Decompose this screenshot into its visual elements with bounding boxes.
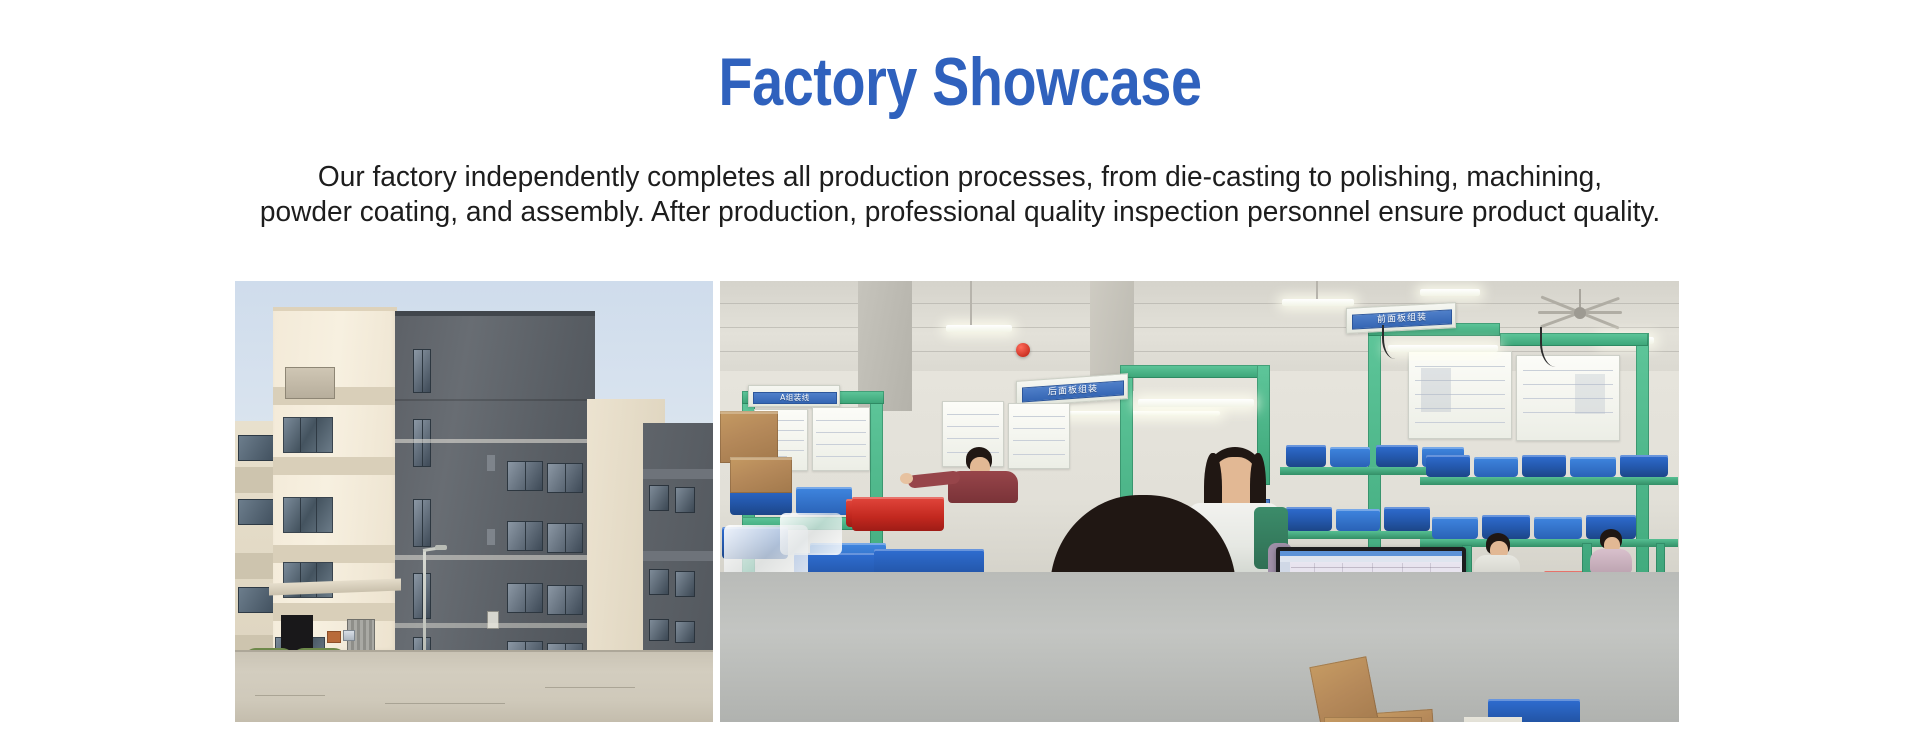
instruction-board — [1008, 403, 1070, 469]
cardboard-box-16 — [1324, 717, 1422, 722]
photo-gallery: A组装线 后面板组装 — [235, 281, 1679, 722]
cream-facade — [273, 307, 397, 651]
ceiling-light — [1282, 299, 1354, 306]
parts-bin — [1534, 517, 1582, 539]
sign-holder: A组装线 — [748, 385, 840, 407]
description-line-1: Our factory independently completes all … — [14, 160, 1905, 195]
instruction-board — [1516, 355, 1620, 441]
parts-bin — [1426, 455, 1470, 477]
workstation-sign-a: A组装线 — [753, 392, 837, 404]
wall-plaque-orange — [327, 631, 341, 643]
ceiling-light — [946, 325, 1012, 332]
ceiling-light — [1420, 289, 1480, 296]
section-description: Our factory independently completes all … — [14, 160, 1905, 230]
description-line-2: powder coating, and assembly. After prod… — [14, 195, 1905, 230]
factory-showcase-section: Factory Showcase Our factory independent… — [0, 0, 1920, 732]
parts-bin — [1570, 457, 1616, 477]
right-wing-grey — [643, 423, 713, 661]
workstation-sign-rear-panel: 后面板组装 — [1022, 380, 1124, 402]
parts-bin — [1286, 445, 1326, 467]
page-title: Factory Showcase — [173, 44, 1747, 120]
parts-bin — [1432, 517, 1478, 539]
ceiling-fan-icon — [1538, 305, 1622, 319]
parts-bin — [1522, 455, 1566, 477]
alarm-bell-icon — [1016, 343, 1030, 357]
parts-bin — [1330, 447, 1370, 467]
paved-yard — [235, 650, 713, 722]
assembly-workshop-photo[interactable]: A组装线 后面板组装 — [720, 281, 1679, 722]
instruction-board — [812, 407, 870, 471]
instruction-board — [1408, 351, 1512, 439]
parts-bin — [1376, 445, 1418, 467]
plastic-wrap — [780, 513, 842, 555]
parts-bin — [796, 487, 852, 515]
workbench-frame-beam — [1500, 333, 1648, 346]
parts-bin — [852, 497, 944, 531]
cardboard-box — [730, 457, 792, 493]
cardboard-box — [720, 411, 778, 463]
parts-bin — [1474, 457, 1518, 477]
shelf-beam — [1420, 539, 1678, 547]
workbench-frame-beam — [1120, 365, 1270, 378]
parts-bin — [1286, 507, 1332, 531]
parts-bin — [1336, 509, 1380, 531]
floor-clutter — [1464, 717, 1522, 722]
parts-bin — [1620, 455, 1668, 477]
street-lamp-head — [435, 545, 447, 550]
wall-plaque-metal — [343, 630, 355, 641]
bench-task-light — [1138, 399, 1254, 407]
factory-exterior-photo[interactable] — [235, 281, 713, 722]
shelf-beam — [1420, 477, 1678, 485]
parts-bin — [1384, 507, 1430, 531]
bench-task-light — [1388, 345, 1498, 352]
